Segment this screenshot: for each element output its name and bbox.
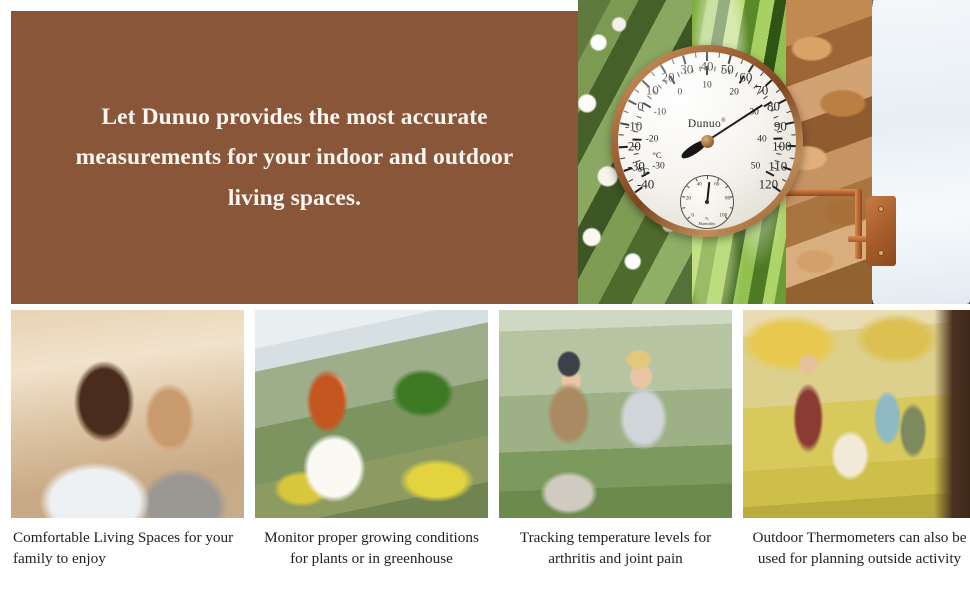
card-caption: Tracking temperature levels for arthriti… <box>499 528 732 569</box>
benefit-card: Outdoor Thermometers can also be used fo… <box>743 310 970 569</box>
celsius-tick-label: 20 <box>729 88 739 98</box>
celsius-tick-label: 50 <box>751 162 761 172</box>
humidity-tick-label: 80 <box>725 196 730 201</box>
card-caption: Comfortable Living Spaces for your famil… <box>11 528 244 569</box>
humidity-tick-label: 0 <box>691 213 694 218</box>
humidity-needle-hub <box>705 200 709 204</box>
humidity-tick-label: 20 <box>686 196 691 201</box>
photo-family-dog-park <box>743 310 970 518</box>
celsius-tick-label: 10 <box>702 81 712 91</box>
celsius-tick-label: -20 <box>646 135 659 145</box>
hero-section: Let Dunuo provides the most accurate mea… <box>0 0 970 304</box>
benefit-card: Monitor proper growing conditions for pl… <box>255 310 488 569</box>
benefit-card: Tracking temperature levels for arthriti… <box>499 310 732 569</box>
product-feature-banner: Let Dunuo provides the most accurate mea… <box>0 0 970 600</box>
celsius-tick-label: 40 <box>757 135 767 145</box>
photo-comfortable-living <box>11 310 244 518</box>
photo-greenhouse-plants <box>255 310 488 518</box>
brand-name: Dunuo <box>688 118 721 130</box>
humidity-label: % Humidity <box>699 216 716 226</box>
hero-headline-panel-inner: Let Dunuo provides the most accurate mea… <box>11 11 578 304</box>
humidity-label-text: Humidity <box>699 221 716 226</box>
dial-thermometer: -40-30-20-100102030405060708090100110120… <box>611 45 803 237</box>
card-caption: Outdoor Thermometers can also be used fo… <box>743 528 970 569</box>
mounting-elbow <box>855 189 862 259</box>
humidity-subdial: 020406080100 % Humidity <box>680 175 734 229</box>
thermometer-dial-face: -40-30-20-100102030405060708090100110120… <box>618 52 796 230</box>
benefit-card-row: Comfortable Living Spaces for your famil… <box>11 310 959 569</box>
hero-headline-panel: Let Dunuo provides the most accurate mea… <box>0 0 578 304</box>
celsius-unit-label: °C <box>652 151 661 160</box>
celsius-tick-label: -30 <box>652 162 665 172</box>
humidity-tick-label: 100 <box>719 213 727 218</box>
celsius-tick-label: -10 <box>654 108 667 118</box>
photo-seniors-bench <box>499 310 732 518</box>
humidity-tick-label: 40 <box>697 182 702 187</box>
trademark-symbol: ® <box>721 118 726 124</box>
humidity-tick-label: 60 <box>714 182 719 187</box>
needle-hub <box>701 135 714 148</box>
celsius-tick-label: 0 <box>678 88 683 98</box>
wall-mount-plate <box>866 196 896 266</box>
hero-season-collage: -40-30-20-100102030405060708090100110120… <box>578 0 970 304</box>
hero-headline: Let Dunuo provides the most accurate mea… <box>51 97 538 218</box>
benefit-card: Comfortable Living Spaces for your famil… <box>11 310 244 569</box>
card-caption: Monitor proper growing conditions for pl… <box>255 528 488 569</box>
dial-brand-mark: Dunuo® <box>688 118 726 130</box>
